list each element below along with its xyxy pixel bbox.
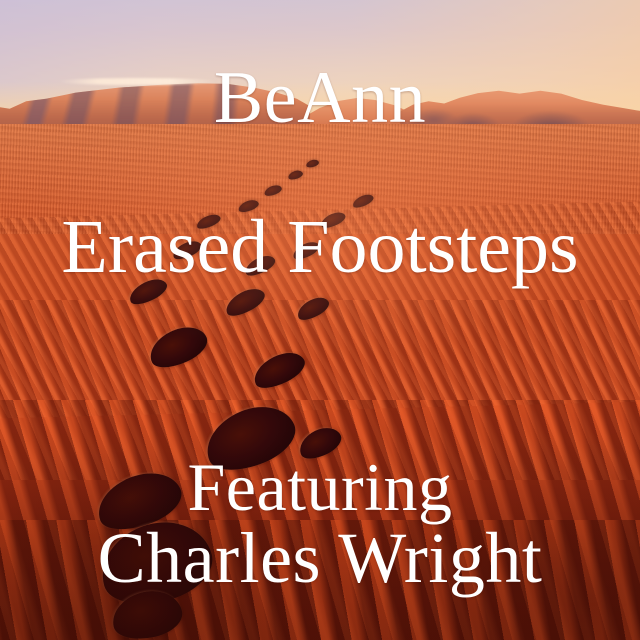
album-title: Erased Footsteps — [0, 206, 640, 288]
album-cover: BeAnn Erased Footsteps Featuring Charles… — [0, 0, 640, 640]
featuring-label: Featuring — [0, 450, 640, 524]
featured-artist-name: Charles Wright — [0, 519, 640, 597]
artist-name: BeAnn — [0, 58, 640, 138]
